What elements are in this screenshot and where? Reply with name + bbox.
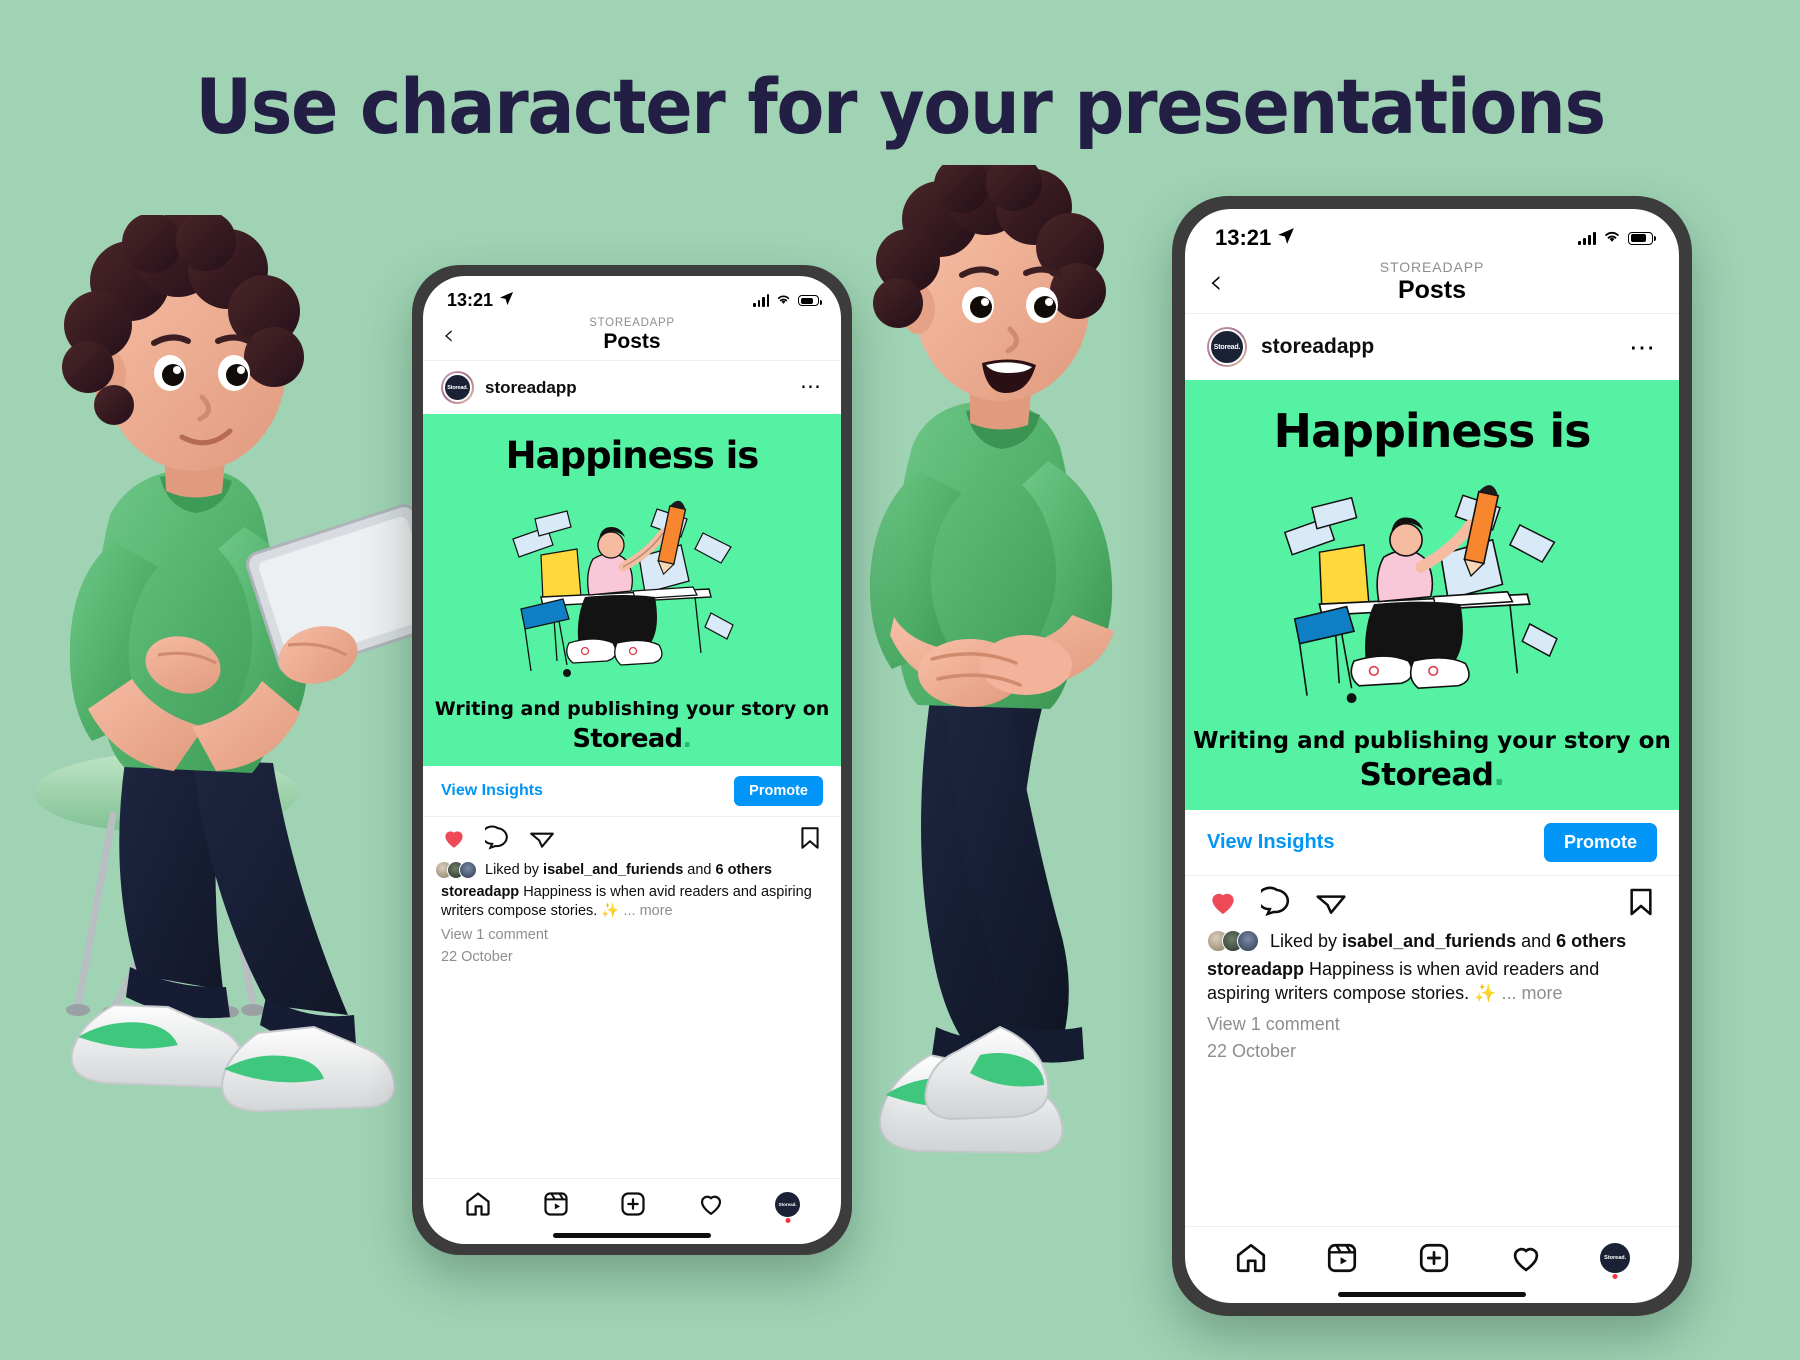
likes-count[interactable]: 6 others — [1556, 931, 1626, 951]
battery-icon — [798, 295, 819, 306]
nav-title: Posts — [423, 330, 841, 354]
tab-bar: Storead. — [1185, 1226, 1679, 1285]
likes-text: Liked by isabel_and_furiends and 6 other… — [1270, 931, 1626, 952]
plus-square-icon[interactable] — [1417, 1241, 1451, 1275]
ellipsis-icon[interactable]: ⋯ — [800, 382, 823, 393]
post-caption: storeadapp Happiness is when avid reader… — [1185, 954, 1679, 1006]
plus-square-icon[interactable] — [619, 1190, 647, 1218]
profile-avatar-label: Storead. — [775, 1192, 800, 1217]
nav-subtitle: STOREADAPP — [423, 317, 841, 329]
caption-more-link[interactable]: more — [640, 903, 673, 919]
caption-username[interactable]: storeadapp — [1207, 959, 1304, 979]
view-insights-link[interactable]: View Insights — [1207, 831, 1334, 854]
caption-ellipsis: ... — [1502, 983, 1522, 1003]
comment-bubble-icon[interactable] — [1261, 886, 1293, 918]
home-icon[interactable] — [464, 1190, 492, 1218]
post-media-subtext: Writing and publishing your story on Sto… — [1193, 728, 1671, 810]
post-header: Storead. storeadapp ⋯ — [1185, 314, 1679, 380]
phone-screen-left: 13:21 ‹ STOREADAPP — [423, 276, 841, 1244]
post-caption: storeadapp Happiness is when avid reader… — [423, 880, 841, 921]
nav-title-group: STOREADAPP Posts — [1185, 259, 1679, 305]
caption-username[interactable]: storeadapp — [441, 884, 519, 900]
avatar[interactable]: Storead. — [1207, 327, 1247, 367]
post-header: Storead. storeadapp ⋯ — [423, 361, 841, 414]
status-icons — [1578, 229, 1653, 248]
status-icons — [753, 292, 819, 310]
post-username[interactable]: storeadapp — [1261, 335, 1615, 359]
cellular-bars-icon — [753, 294, 769, 307]
desk-illustration — [1185, 458, 1679, 728]
likes-row: Liked by isabel_and_furiends and 6 other… — [423, 856, 841, 880]
bookmark-icon[interactable] — [1625, 886, 1657, 918]
location-arrow-icon — [1277, 225, 1295, 251]
notification-dot — [1613, 1274, 1618, 1279]
wifi-icon — [776, 292, 791, 310]
cellular-bars-icon — [1578, 232, 1596, 245]
avatar-label: Storead. — [443, 373, 472, 402]
home-icon[interactable] — [1234, 1241, 1268, 1275]
heart-outline-icon[interactable] — [697, 1190, 725, 1218]
liker-username[interactable]: isabel_and_furiends — [543, 862, 683, 878]
home-indicator — [423, 1226, 841, 1244]
reels-icon[interactable] — [542, 1190, 570, 1218]
caption-ellipsis: ... — [623, 903, 639, 919]
nav-header: ‹ STOREADAPP Posts — [1185, 255, 1679, 314]
likes-count[interactable]: 6 others — [716, 862, 772, 878]
post-media[interactable]: Happiness is — [1185, 380, 1679, 810]
nav-title-group: STOREADAPP Posts — [423, 317, 841, 354]
post-date: 22 October — [423, 943, 841, 965]
liker-avatars — [441, 861, 477, 879]
post-date: 22 October — [1185, 1035, 1679, 1062]
post-media-subtext: Writing and publishing your story on Sto… — [435, 699, 830, 766]
location-arrow-icon — [499, 290, 514, 311]
heart-filled-icon[interactable] — [1207, 886, 1239, 918]
insights-row: View Insights Promote — [1185, 810, 1679, 875]
home-indicator — [1185, 1285, 1679, 1303]
promote-button[interactable]: Promote — [734, 776, 823, 806]
tab-bar: Storead. — [423, 1178, 841, 1226]
nav-header: ‹ STOREADAPP Posts — [423, 313, 841, 361]
brand-wordmark: Storead. — [435, 725, 830, 755]
status-time-group: 13:21 — [1215, 225, 1295, 251]
post-actions — [1185, 875, 1679, 924]
notification-dot — [785, 1218, 790, 1223]
phone-mockup-left: 13:21 ‹ STOREADAPP — [412, 265, 852, 1255]
caption-more-link[interactable]: more — [1522, 983, 1563, 1003]
heart-filled-icon[interactable] — [441, 825, 467, 851]
post-username[interactable]: storeadapp — [485, 378, 789, 398]
avatar[interactable]: Storead. — [441, 371, 474, 404]
profile-avatar-label: Storead. — [1600, 1243, 1630, 1273]
reels-icon[interactable] — [1325, 1241, 1359, 1275]
battery-icon — [1628, 232, 1653, 245]
page-title: Use character for your presentations — [72, 62, 1728, 151]
liker-username[interactable]: isabel_and_furiends — [1342, 931, 1516, 951]
view-comments-link[interactable]: View 1 comment — [1185, 1006, 1679, 1035]
paper-plane-icon[interactable] — [1315, 886, 1347, 918]
phone-mockup-right: 13:21 ‹ STOREADAPP — [1172, 196, 1692, 1316]
desk-illustration — [423, 477, 841, 699]
insights-row: View Insights Promote — [423, 766, 841, 816]
view-insights-link[interactable]: View Insights — [441, 782, 543, 800]
comment-bubble-icon[interactable] — [485, 825, 511, 851]
promote-button[interactable]: Promote — [1544, 823, 1657, 862]
likes-row: Liked by isabel_and_furiends and 6 other… — [1185, 924, 1679, 954]
nav-title: Posts — [1185, 276, 1679, 305]
status-time-group: 13:21 — [447, 290, 514, 311]
liker-avatars — [1207, 930, 1259, 952]
status-bar: 13:21 — [1185, 209, 1679, 255]
phone-screen-right: 13:21 ‹ STOREADAPP — [1185, 209, 1679, 1303]
post-media-tagline: Writing and publishing your story on — [1193, 728, 1671, 754]
profile-tab[interactable]: Storead. — [1600, 1243, 1630, 1273]
status-time: 13:21 — [447, 290, 493, 311]
post-actions — [423, 816, 841, 856]
post-media-tagline: Writing and publishing your story on — [435, 698, 830, 720]
bookmark-icon[interactable] — [797, 825, 823, 851]
view-comments-link[interactable]: View 1 comment — [423, 921, 841, 943]
wifi-icon — [1603, 229, 1621, 248]
post-media[interactable]: Happiness is — [423, 414, 841, 766]
status-bar: 13:21 — [423, 276, 841, 313]
post-media-headline: Happiness is — [506, 434, 759, 477]
nav-subtitle: STOREADAPP — [1185, 259, 1679, 275]
post-media-headline: Happiness is — [1273, 404, 1590, 458]
ellipsis-icon[interactable]: ⋯ — [1629, 341, 1657, 354]
avatar-label: Storead. — [1209, 329, 1245, 365]
profile-tab[interactable]: Storead. — [775, 1192, 800, 1217]
heart-outline-icon[interactable] — [1509, 1241, 1543, 1275]
likes-text: Liked by isabel_and_furiends and 6 other… — [485, 862, 772, 878]
brand-wordmark: Storead. — [1193, 758, 1671, 794]
status-time: 13:21 — [1215, 225, 1271, 251]
paper-plane-icon[interactable] — [529, 825, 555, 851]
